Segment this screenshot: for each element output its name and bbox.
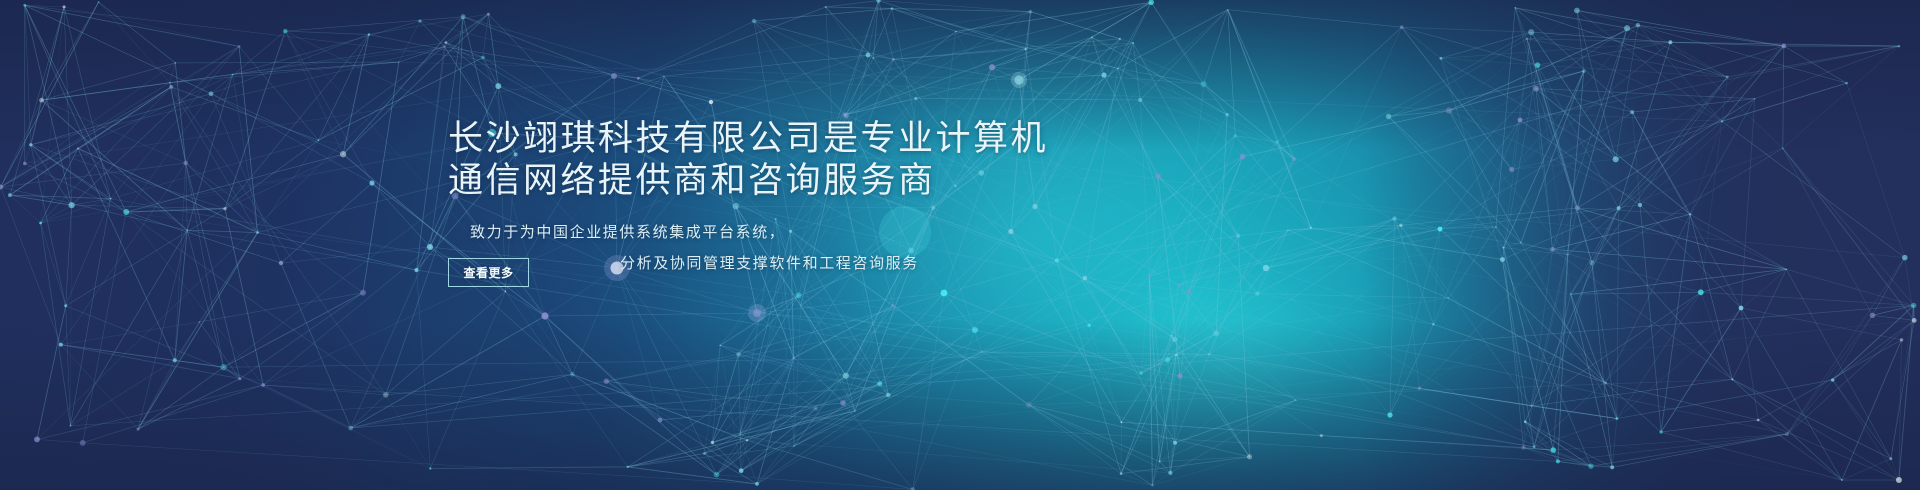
hero-headline-line1: 长沙翊琪科技有限公司是专业计算机 <box>448 119 1048 158</box>
hero-content: 长沙翊琪科技有限公司是专业计算机 通信网络提供商和咨询服务商 致力于为中国企业提… <box>448 118 1208 244</box>
hero-banner: 长沙翊琪科技有限公司是专业计算机 通信网络提供商和咨询服务商 致力于为中国企业提… <box>0 0 1920 490</box>
hero-subtitle-line1: 致力于为中国企业提供系统集成平台系统， <box>470 222 1208 244</box>
network-constellation-graphic <box>0 0 1920 490</box>
hero-headline: 长沙翊琪科技有限公司是专业计算机 通信网络提供商和咨询服务商 <box>448 118 1208 202</box>
hero-headline-line2: 通信网络提供商和咨询服务商 <box>448 160 1208 202</box>
view-more-button[interactable]: 查看更多 <box>448 258 529 287</box>
view-more-button-label: 查看更多 <box>463 264 513 281</box>
hero-subtitle-line2: 分析及协同管理支撑软件和工程咨询服务 <box>620 253 919 275</box>
